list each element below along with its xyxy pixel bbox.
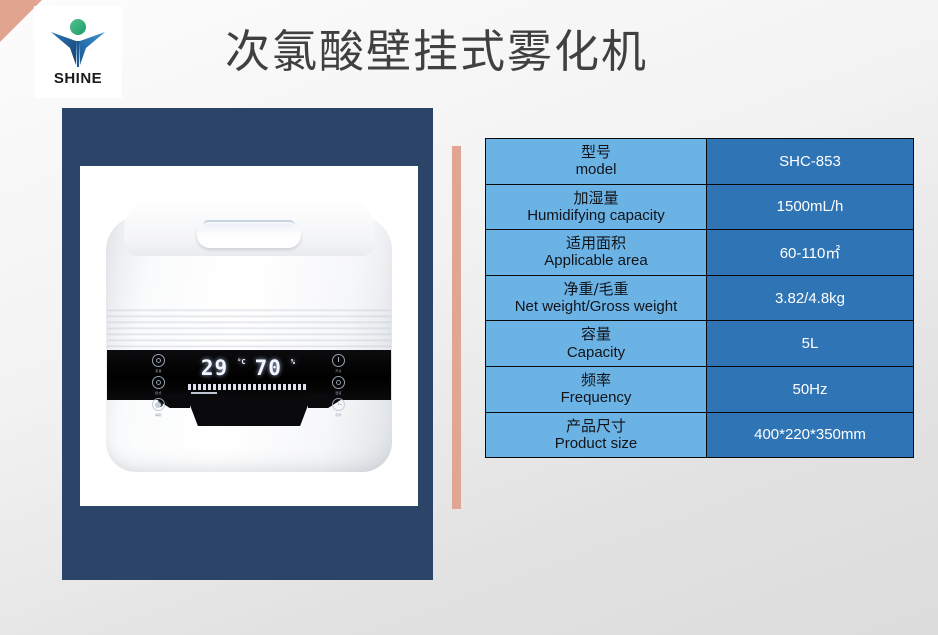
shine-person-logo-icon: [49, 17, 107, 69]
slide-canvas: SHINE 次氯酸壁挂式雾化机 雾量 模式: [0, 0, 938, 635]
spec-label-zh: 适用面积: [492, 234, 700, 252]
spec-label-zh: 频率: [492, 371, 700, 389]
spec-label-cell: 加湿量 Humidifying capacity: [486, 184, 707, 230]
humidifier-device-illustration: 雾量 模式 睡眠 29 °C 70 %: [106, 198, 392, 472]
spec-label-zh: 型号: [492, 143, 700, 161]
page-title: 次氯酸壁挂式雾化机: [225, 28, 648, 75]
power-label: 开关: [335, 370, 342, 373]
table-row: 净重/毛重 Net weight/Gross weight 3.82/4.8kg: [486, 275, 914, 321]
specification-table-body: 型号 model SHC-853 加湿量 Humidifying capacit…: [486, 139, 914, 458]
humidity-unit: %: [291, 359, 295, 366]
led-readout: 29 °C 70 %: [201, 358, 295, 379]
spec-label-zh: 净重/毛重: [492, 280, 700, 298]
table-row: 适用面积 Applicable area 60-110㎡: [486, 230, 914, 276]
table-row: 产品尺寸 Product size 400*220*350mm: [486, 412, 914, 458]
spec-label-en: Product size: [492, 435, 700, 453]
humidity-setting-icon[interactable]: [332, 376, 345, 389]
vertical-accent-divider: [452, 146, 461, 509]
table-row: 频率 Frequency 50Hz: [486, 366, 914, 412]
spec-label-en: Capacity: [492, 344, 700, 362]
specification-table: 型号 model SHC-853 加湿量 Humidifying capacit…: [485, 138, 914, 458]
led-sub-indicator: [191, 392, 217, 394]
control-icons-right: 开关 湿度 定时: [332, 354, 345, 417]
power-icon[interactable]: [332, 354, 345, 367]
table-row: 容量 Capacity 5L: [486, 321, 914, 367]
spec-value-cell: 60-110㎡: [707, 230, 914, 276]
spec-value-cell: 5L: [707, 321, 914, 367]
humidity-value: 70: [255, 358, 282, 379]
humidity-setting-label: 湿度: [335, 392, 342, 395]
device-wave-texture: [107, 306, 391, 352]
spec-value-cell: 1500mL/h: [707, 184, 914, 230]
temperature-unit: °C: [237, 359, 245, 366]
led-display: 29 °C 70 %: [180, 358, 316, 394]
mist-output-icon[interactable]: [152, 354, 165, 367]
product-photo: 雾量 模式 睡眠 29 °C 70 %: [80, 166, 418, 506]
spec-label-en: Humidifying capacity: [492, 207, 700, 225]
spec-label-zh: 加湿量: [492, 189, 700, 207]
device-handle: [197, 222, 301, 248]
spec-label-zh: 容量: [492, 325, 700, 343]
table-row: 型号 model SHC-853: [486, 139, 914, 185]
spec-label-en: model: [492, 161, 700, 179]
brand-logo: SHINE: [34, 6, 122, 98]
led-segment-bar: [188, 384, 308, 390]
timer-clock-icon[interactable]: [332, 398, 345, 411]
spec-label-cell: 频率 Frequency: [486, 366, 707, 412]
mist-output-label: 雾量: [155, 370, 162, 373]
timer-label: 定时: [335, 414, 342, 417]
mode-dial-icon[interactable]: [152, 376, 165, 389]
spec-label-en: Frequency: [492, 389, 700, 407]
spec-label-cell: 容量 Capacity: [486, 321, 707, 367]
mode-dial-label: 模式: [155, 392, 162, 395]
spec-value-cell: 50Hz: [707, 366, 914, 412]
spec-value-cell: 400*220*350mm: [707, 412, 914, 458]
product-photo-panel: 雾量 模式 睡眠 29 °C 70 %: [62, 108, 433, 580]
table-row: 加湿量 Humidifying capacity 1500mL/h: [486, 184, 914, 230]
device-panel-skirt: [178, 396, 320, 426]
spec-label-en: Net weight/Gross weight: [492, 298, 700, 316]
spec-value-cell: 3.82/4.8kg: [707, 275, 914, 321]
spec-label-cell: 净重/毛重 Net weight/Gross weight: [486, 275, 707, 321]
brand-name: SHINE: [54, 70, 102, 87]
spec-label-zh: 产品尺寸: [492, 417, 700, 435]
spec-label-cell: 适用面积 Applicable area: [486, 230, 707, 276]
spec-label-cell: 产品尺寸 Product size: [486, 412, 707, 458]
spec-value-cell: SHC-853: [707, 139, 914, 185]
control-icons-left: 雾量 模式 睡眠: [152, 354, 165, 417]
temperature-value: 29: [201, 358, 228, 379]
night-mode-moon-icon[interactable]: [152, 398, 165, 411]
spec-label-en: Applicable area: [492, 252, 700, 270]
night-mode-label: 睡眠: [155, 414, 162, 417]
spec-label-cell: 型号 model: [486, 139, 707, 185]
